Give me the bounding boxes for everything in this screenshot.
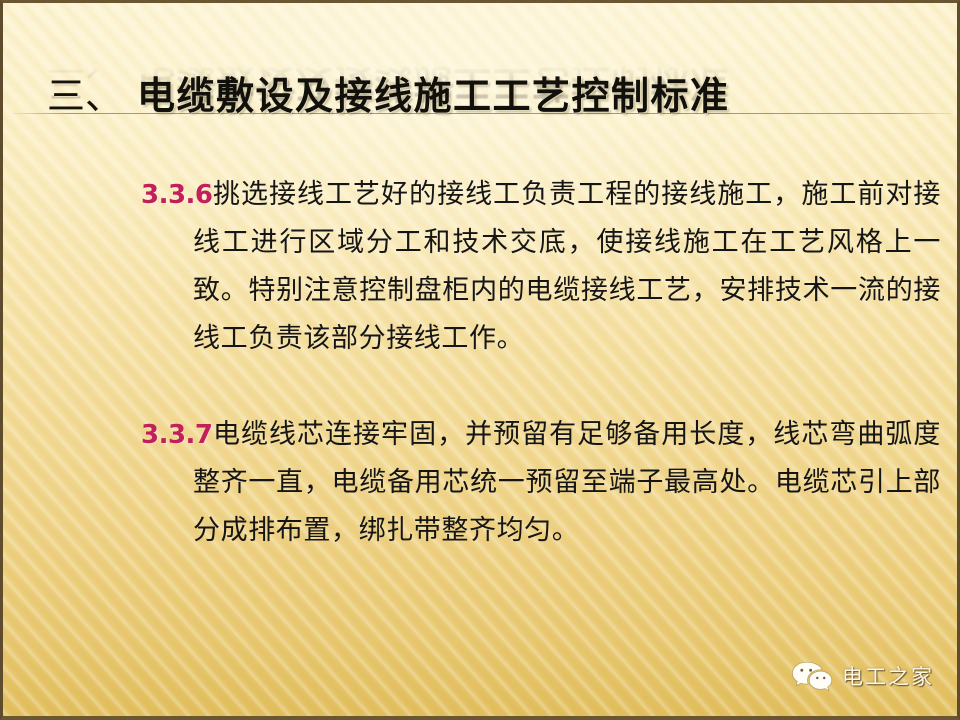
slide-body: 3.3.6挑选接线工艺好的接线工负责工程的接线施工，施工前对接线工进行区域分工和… [141, 171, 941, 555]
paragraph-number: 3.3.6 [141, 180, 213, 210]
page-title: 三、 电缆敷设及接线施工工艺控制标准 [47, 65, 730, 120]
wechat-watermark-label: 电工之家 [842, 661, 934, 691]
paragraph-number: 3.3.7 [141, 420, 213, 450]
presentation-slide: 三、 电缆敷设及接线施工工艺控制标准 三、 电缆敷设及接线施工工艺控制标准 3.… [0, 0, 960, 720]
paragraph-text: 挑选接线工艺好的接线工负责工程的接线施工，施工前对接线工进行区域分工和技术交底，… [193, 179, 941, 354]
wechat-watermark: 电工之家 [791, 661, 934, 691]
wechat-icon [791, 661, 833, 691]
title-section-number: 三、 [47, 65, 123, 120]
slide-title-block: 三、 电缆敷设及接线施工工艺控制标准 三、 电缆敷设及接线施工工艺控制标准 [3, 65, 960, 161]
title-text: 电缆敷设及接线施工工艺控制标准 [137, 65, 730, 120]
body-paragraph: 3.3.7电缆线芯连接牢固，并预留有足够备用长度，线芯弯曲弧度整齐一直，电缆备用… [141, 411, 941, 555]
paragraph-text: 电缆线芯连接牢固，并预留有足够备用长度，线芯弯曲弧度整齐一直，电缆备用芯统一预留… [193, 419, 941, 546]
body-paragraph: 3.3.6挑选接线工艺好的接线工负责工程的接线施工，施工前对接线工进行区域分工和… [141, 171, 941, 363]
